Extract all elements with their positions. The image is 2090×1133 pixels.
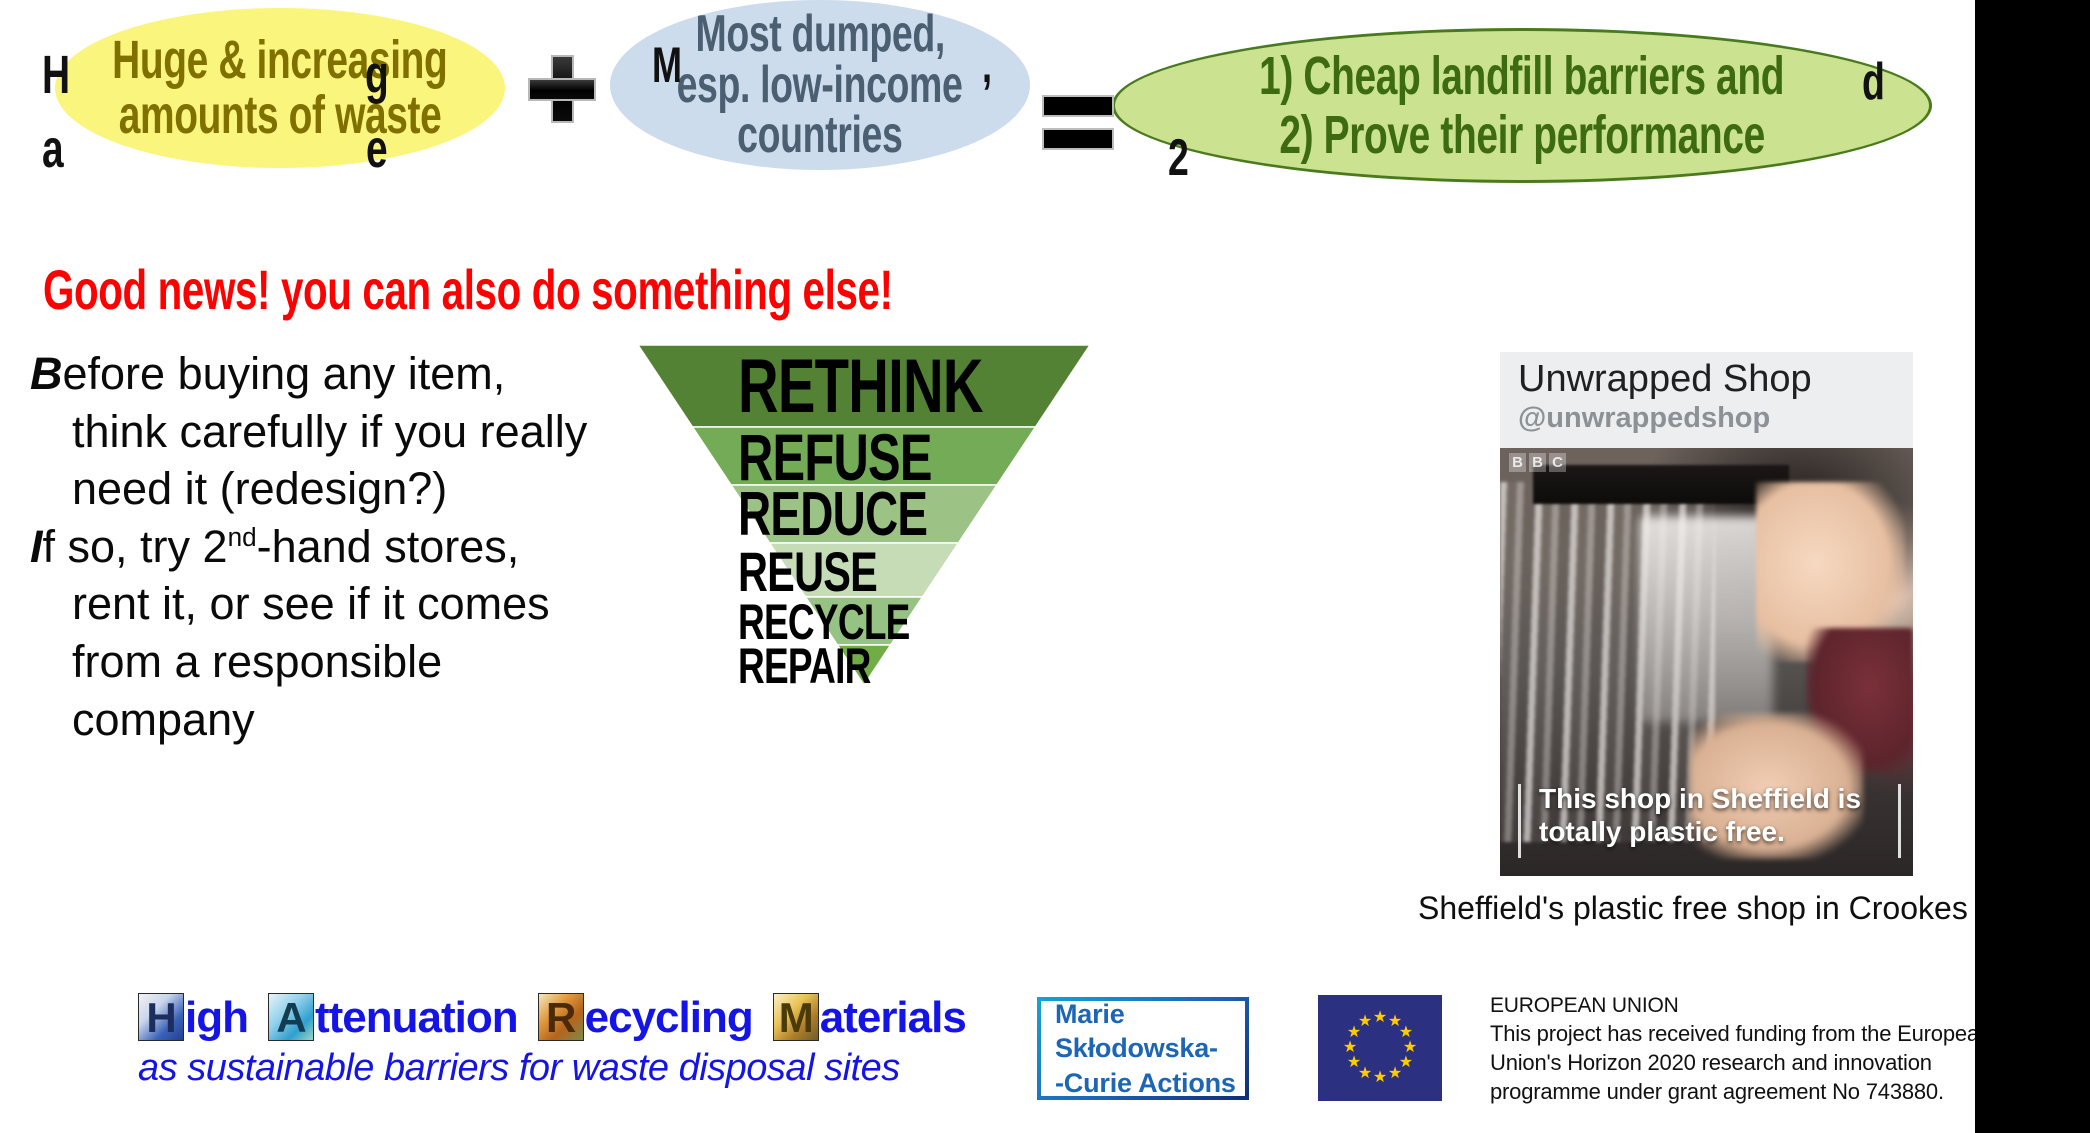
eu-star-icon: ★ (1346, 1055, 1362, 1071)
advice-p2-superscript: nd (228, 522, 257, 552)
harm-decorative-letter-h-icon: H (138, 993, 184, 1041)
ellipse-green-line-2: 2) Prove their performance (1279, 106, 1764, 164)
funnel-band (731, 485, 997, 543)
slide-canvas: Huge & increasing amounts of waste H a g… (0, 0, 2090, 1133)
overlay-bar-left (1518, 784, 1521, 858)
plus-sign-icon (528, 55, 596, 123)
overlay-caption-text: This shop in Sheffield is totally plasti… (1539, 782, 1890, 848)
advice-p1-cont-2: need it (redesign?) (30, 460, 600, 518)
harm-word-rest: igh (185, 993, 248, 1043)
advice-p1-cont-1: think carefully if you really (30, 403, 600, 461)
funnel-band (837, 645, 890, 685)
advice-p2-rest-post: -hand stores, (257, 521, 520, 572)
funnel-band (693, 427, 1036, 485)
photo-caption: Sheffield's plastic free shop in Crookes (1418, 890, 2058, 927)
advice-p1-lead: B (30, 348, 63, 399)
harm-word-r: Recycling (538, 993, 753, 1043)
funnel-band (638, 345, 1090, 427)
eu-flag-icon: ★★★★★★★★★★★★ (1318, 995, 1442, 1101)
harm-word-rest: ttenuation (315, 993, 518, 1043)
harm-word-m: Materials (773, 993, 966, 1043)
msca-line-1: Marie Skłodowska- (1055, 997, 1245, 1066)
bbc-letter-c: C (1549, 453, 1566, 472)
shop-handle: @unwrappedshop (1518, 402, 1913, 435)
msca-line-2: -Curie Actions (1055, 1066, 1245, 1101)
equals-sign-icon (1042, 95, 1114, 153)
bbc-letter-b1: B (1509, 453, 1526, 472)
ellipse-blue-line-2: esp. low-income (677, 60, 963, 111)
ellipse-blue-bleed-right: , (982, 36, 992, 94)
right-black-bar (1975, 0, 2090, 1133)
harm-decorative-letter-a-icon: A (268, 993, 314, 1041)
funnel-band (770, 543, 959, 597)
msca-logo: Marie Skłodowska- -Curie Actions (1037, 997, 1249, 1100)
ellipse-blue-line-1: Most dumped, (695, 9, 944, 60)
bbc-watermark-icon: B B C (1509, 453, 1566, 472)
ellipse-yellow-bleed-left-1: H (42, 44, 70, 106)
ellipse-objectives: 1) Cheap landfill barriers and 2) Prove … (1112, 28, 1932, 183)
eu-star-icon: ★ (1342, 1040, 1358, 1056)
eu-star-icon: ★ (1372, 1010, 1388, 1026)
harm-decorative-letter-r-icon: R (538, 993, 584, 1041)
advice-p2-cont-3: company (30, 691, 600, 749)
ellipse-blue-bleed-left: M (652, 36, 682, 94)
photo-card-header: Unwrapped Shop @unwrappedshop (1500, 352, 1913, 448)
unwrapped-shop-photo-card: Unwrapped Shop @unwrappedshop B B C This… (1500, 352, 1913, 876)
harm-word-rest: ecycling (585, 993, 753, 1043)
advice-body-text: Before buying any item, think carefully … (30, 345, 600, 748)
eu-star-icon: ★ (1357, 1014, 1373, 1030)
ellipse-green-line-1: 1) Cheap landfill barriers and (1259, 47, 1784, 105)
advice-p2-cont-1: rent it, or see if it comes (30, 575, 600, 633)
funnel-band (806, 597, 923, 645)
shop-photo: B B C This shop in Sheffield is totally … (1500, 448, 1913, 876)
overlay-bar-right (1898, 784, 1901, 858)
harm-acronym-words: HighAttenuationRecyclingMaterials (138, 993, 986, 1043)
harm-project-logo: HighAttenuationRecyclingMaterials as sus… (138, 993, 986, 1090)
advice-p2-cont-2: from a responsible (30, 633, 600, 691)
harm-word-h: High (138, 993, 248, 1043)
eu-star-icon: ★ (1372, 1070, 1388, 1086)
harm-decorative-letter-m-icon: M (773, 993, 819, 1041)
ellipse-yellow-bleed-right-1: g (365, 44, 389, 106)
ellipse-yellow-line-2: amounts of waste (119, 88, 442, 143)
advice-paragraph-1: Before buying any item, think carefully … (30, 345, 600, 518)
harm-word-a: Attenuation (268, 993, 518, 1043)
photo-overlay-caption: This shop in Sheffield is totally plasti… (1500, 782, 1913, 858)
harm-tagline: as sustainable barriers for waste dispos… (138, 1047, 986, 1090)
good-news-headline: Good news! you can also do something els… (43, 257, 893, 322)
ellipse-yellow-line-1: Huge & increasing (112, 33, 447, 88)
ellipse-green-bleed-right: d (1862, 52, 1885, 112)
ellipse-yellow-bleed-left-2: a (42, 118, 64, 180)
waste-hierarchy-funnel (638, 345, 1090, 685)
advice-paragraph-2: If so, try 2nd-hand stores, rent it, or … (30, 518, 600, 748)
ellipse-waste-amount: Huge & increasing amounts of waste (55, 8, 505, 168)
advice-p1-rest: efore buying any item, (63, 348, 506, 399)
advice-p2-rest-pre: f so, try 2 (43, 521, 228, 572)
bbc-letter-b2: B (1529, 453, 1546, 472)
harm-word-rest: aterials (820, 993, 966, 1043)
advice-p2-lead: I (30, 521, 43, 572)
ellipse-yellow-bleed-right-2: e (366, 118, 388, 180)
ellipse-green-bleed-left: 2 (1168, 128, 1189, 188)
eu-star-icon: ★ (1387, 1066, 1403, 1082)
shop-name: Unwrapped Shop (1518, 358, 1913, 401)
ellipse-blue-line-3: countries (737, 110, 902, 161)
funnel-svg (638, 345, 1090, 685)
